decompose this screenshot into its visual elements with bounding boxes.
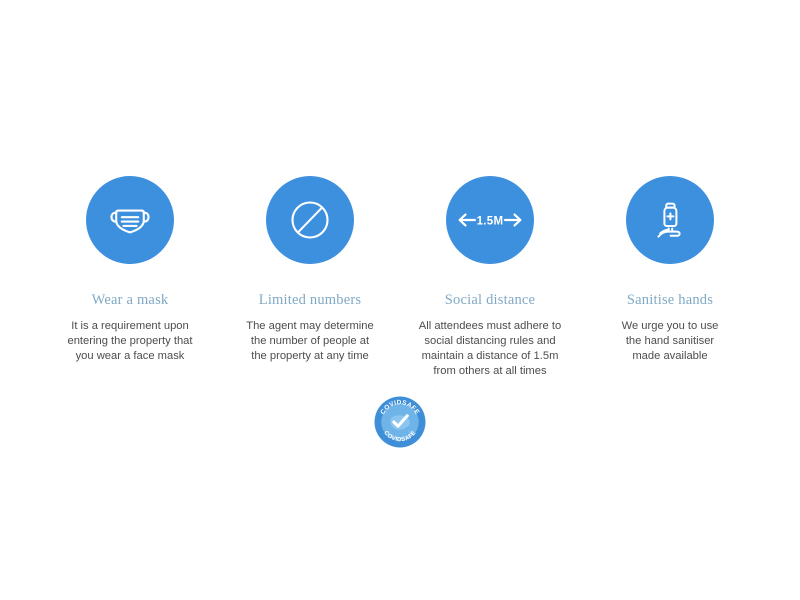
guideline-card-social-distance: 1.5M Social distance All attendees must … xyxy=(400,176,580,379)
covidsafe-badge-wrap: COVIDSAFE COVIDSAFE xyxy=(0,396,800,448)
guideline-card-limited-numbers: Limited numbers The agent may determine … xyxy=(220,176,400,364)
card-body-line: entering the property that xyxy=(67,334,192,349)
face-mask-icon xyxy=(86,176,174,264)
covidsafe-badge: COVIDSAFE COVIDSAFE xyxy=(374,396,426,448)
card-title: Sanitise hands xyxy=(627,293,713,308)
card-body-line: maintain a distance of 1.5m xyxy=(419,349,561,364)
guideline-card-sanitise-hands: Sanitise hands We urge you to use the ha… xyxy=(580,176,760,364)
social-distance-label: 1.5M xyxy=(477,215,504,227)
card-body-line: made available xyxy=(622,349,719,364)
card-body-line: the hand sanitiser xyxy=(622,334,719,349)
card-body-line: the number of people at xyxy=(246,334,373,349)
card-body-line: The agent may determine xyxy=(246,319,373,334)
card-title: Social distance xyxy=(445,293,535,308)
hand-sanitiser-icon xyxy=(626,176,714,264)
card-title: Wear a mask xyxy=(92,293,169,308)
card-body-line: We urge you to use xyxy=(622,319,719,334)
card-body: All attendees must adhere to social dist… xyxy=(419,319,561,380)
card-body-line: social distancing rules and xyxy=(419,334,561,349)
card-body-line: you wear a face mask xyxy=(67,349,192,364)
card-title: Limited numbers xyxy=(259,293,361,308)
card-body-line: It is a requirement upon xyxy=(67,319,192,334)
card-body: The agent may determine the number of pe… xyxy=(246,319,373,365)
prohibition-sign-icon xyxy=(266,176,354,264)
guideline-cards: Wear a mask It is a requirement upon ent… xyxy=(40,176,760,379)
guideline-card-wear-a-mask: Wear a mask It is a requirement upon ent… xyxy=(40,176,220,364)
card-body-line: the property at any time xyxy=(246,349,373,364)
covid-guidelines-board: Wear a mask It is a requirement upon ent… xyxy=(0,0,800,600)
card-body: It is a requirement upon entering the pr… xyxy=(67,319,192,365)
social-distance-arrows-icon: 1.5M xyxy=(446,176,534,264)
card-body-line: All attendees must adhere to xyxy=(419,319,561,334)
card-body: We urge you to use the hand sanitiser ma… xyxy=(622,319,719,365)
card-body-line: from others at all times xyxy=(419,364,561,379)
